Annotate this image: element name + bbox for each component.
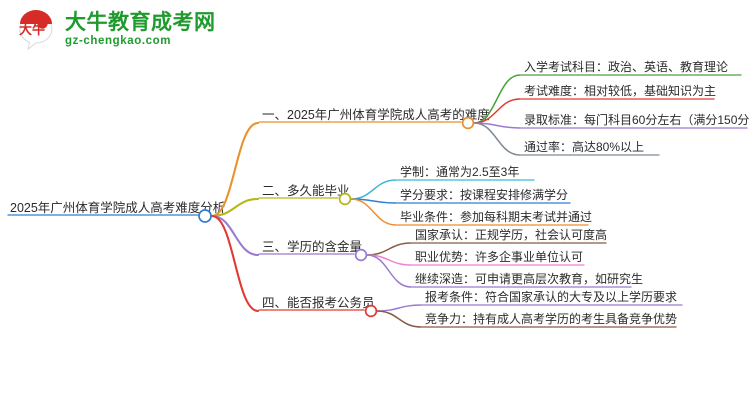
branch-2-node[interactable] <box>340 194 351 205</box>
branch-1-leaf-2-label: 考试难度：相对较低，基础知识为主 <box>524 83 716 98</box>
branch-1-leaf-1-label: 入学考试科目：政治、英语、教育理论 <box>524 59 728 74</box>
mindmap-svg: 2025年广州体育学院成人高考难度分析一、2025年广州体育学院成人高考的难度入… <box>0 0 750 410</box>
branch-3-connector <box>212 216 258 255</box>
branch-1-node[interactable] <box>463 118 474 129</box>
branch-3-leaf-2-label: 职业优势：许多企事业单位认可 <box>415 249 583 264</box>
branch-2-leaf-2-label: 学分要求：按课程安排修满学分 <box>400 187 568 202</box>
branch-2-leaf-1-label: 学制：通常为2.5至3年 <box>400 164 519 179</box>
branch-3-leaf-1-label: 国家承认：正规学历，社会认可度高 <box>415 227 607 242</box>
branch-3-node[interactable] <box>356 250 367 261</box>
branch-1-leaf-3-label: 录取标准：每门科目60分左右（满分150分） <box>524 112 750 127</box>
root-label: 2025年广州体育学院成人高考难度分析 <box>10 200 225 215</box>
branch-4-connector <box>212 216 258 311</box>
branch-3-leaf-3-label: 继续深造：可申请更高层次教育，如研究生 <box>415 271 643 286</box>
branch-2-leaf-1-connector <box>351 180 396 199</box>
branch-4-label: 四、能否报考公务员 <box>262 295 375 310</box>
branch-2-leaf-3-label: 毕业条件：参加每科期末考试并通过 <box>400 209 592 224</box>
mindmap-canvas: 2025年广州体育学院成人高考难度分析一、2025年广州体育学院成人高考的难度入… <box>0 0 750 410</box>
branch-4-leaf-1-label: 报考条件：符合国家承认的大专及以上学历要求 <box>425 289 677 304</box>
branch-4-leaf-1-connector <box>377 305 421 311</box>
branch-3-leaf-1-connector <box>367 243 411 255</box>
branch-4-leaf-2-connector <box>377 311 421 327</box>
branch-1-label: 一、2025年广州体育学院成人高考的难度 <box>262 107 490 122</box>
branch-2-label: 二、多久能毕业 <box>262 184 350 198</box>
branch-4-node[interactable] <box>366 306 377 317</box>
root-node[interactable] <box>199 210 211 222</box>
branch-3-label: 三、学历的含金量 <box>262 239 362 254</box>
branch-1-leaf-4-label: 通过率：高达80%以上 <box>524 139 644 154</box>
branch-4-leaf-2-label: 竞争力：持有成人高考学历的考生具备竞争优势 <box>425 311 677 326</box>
